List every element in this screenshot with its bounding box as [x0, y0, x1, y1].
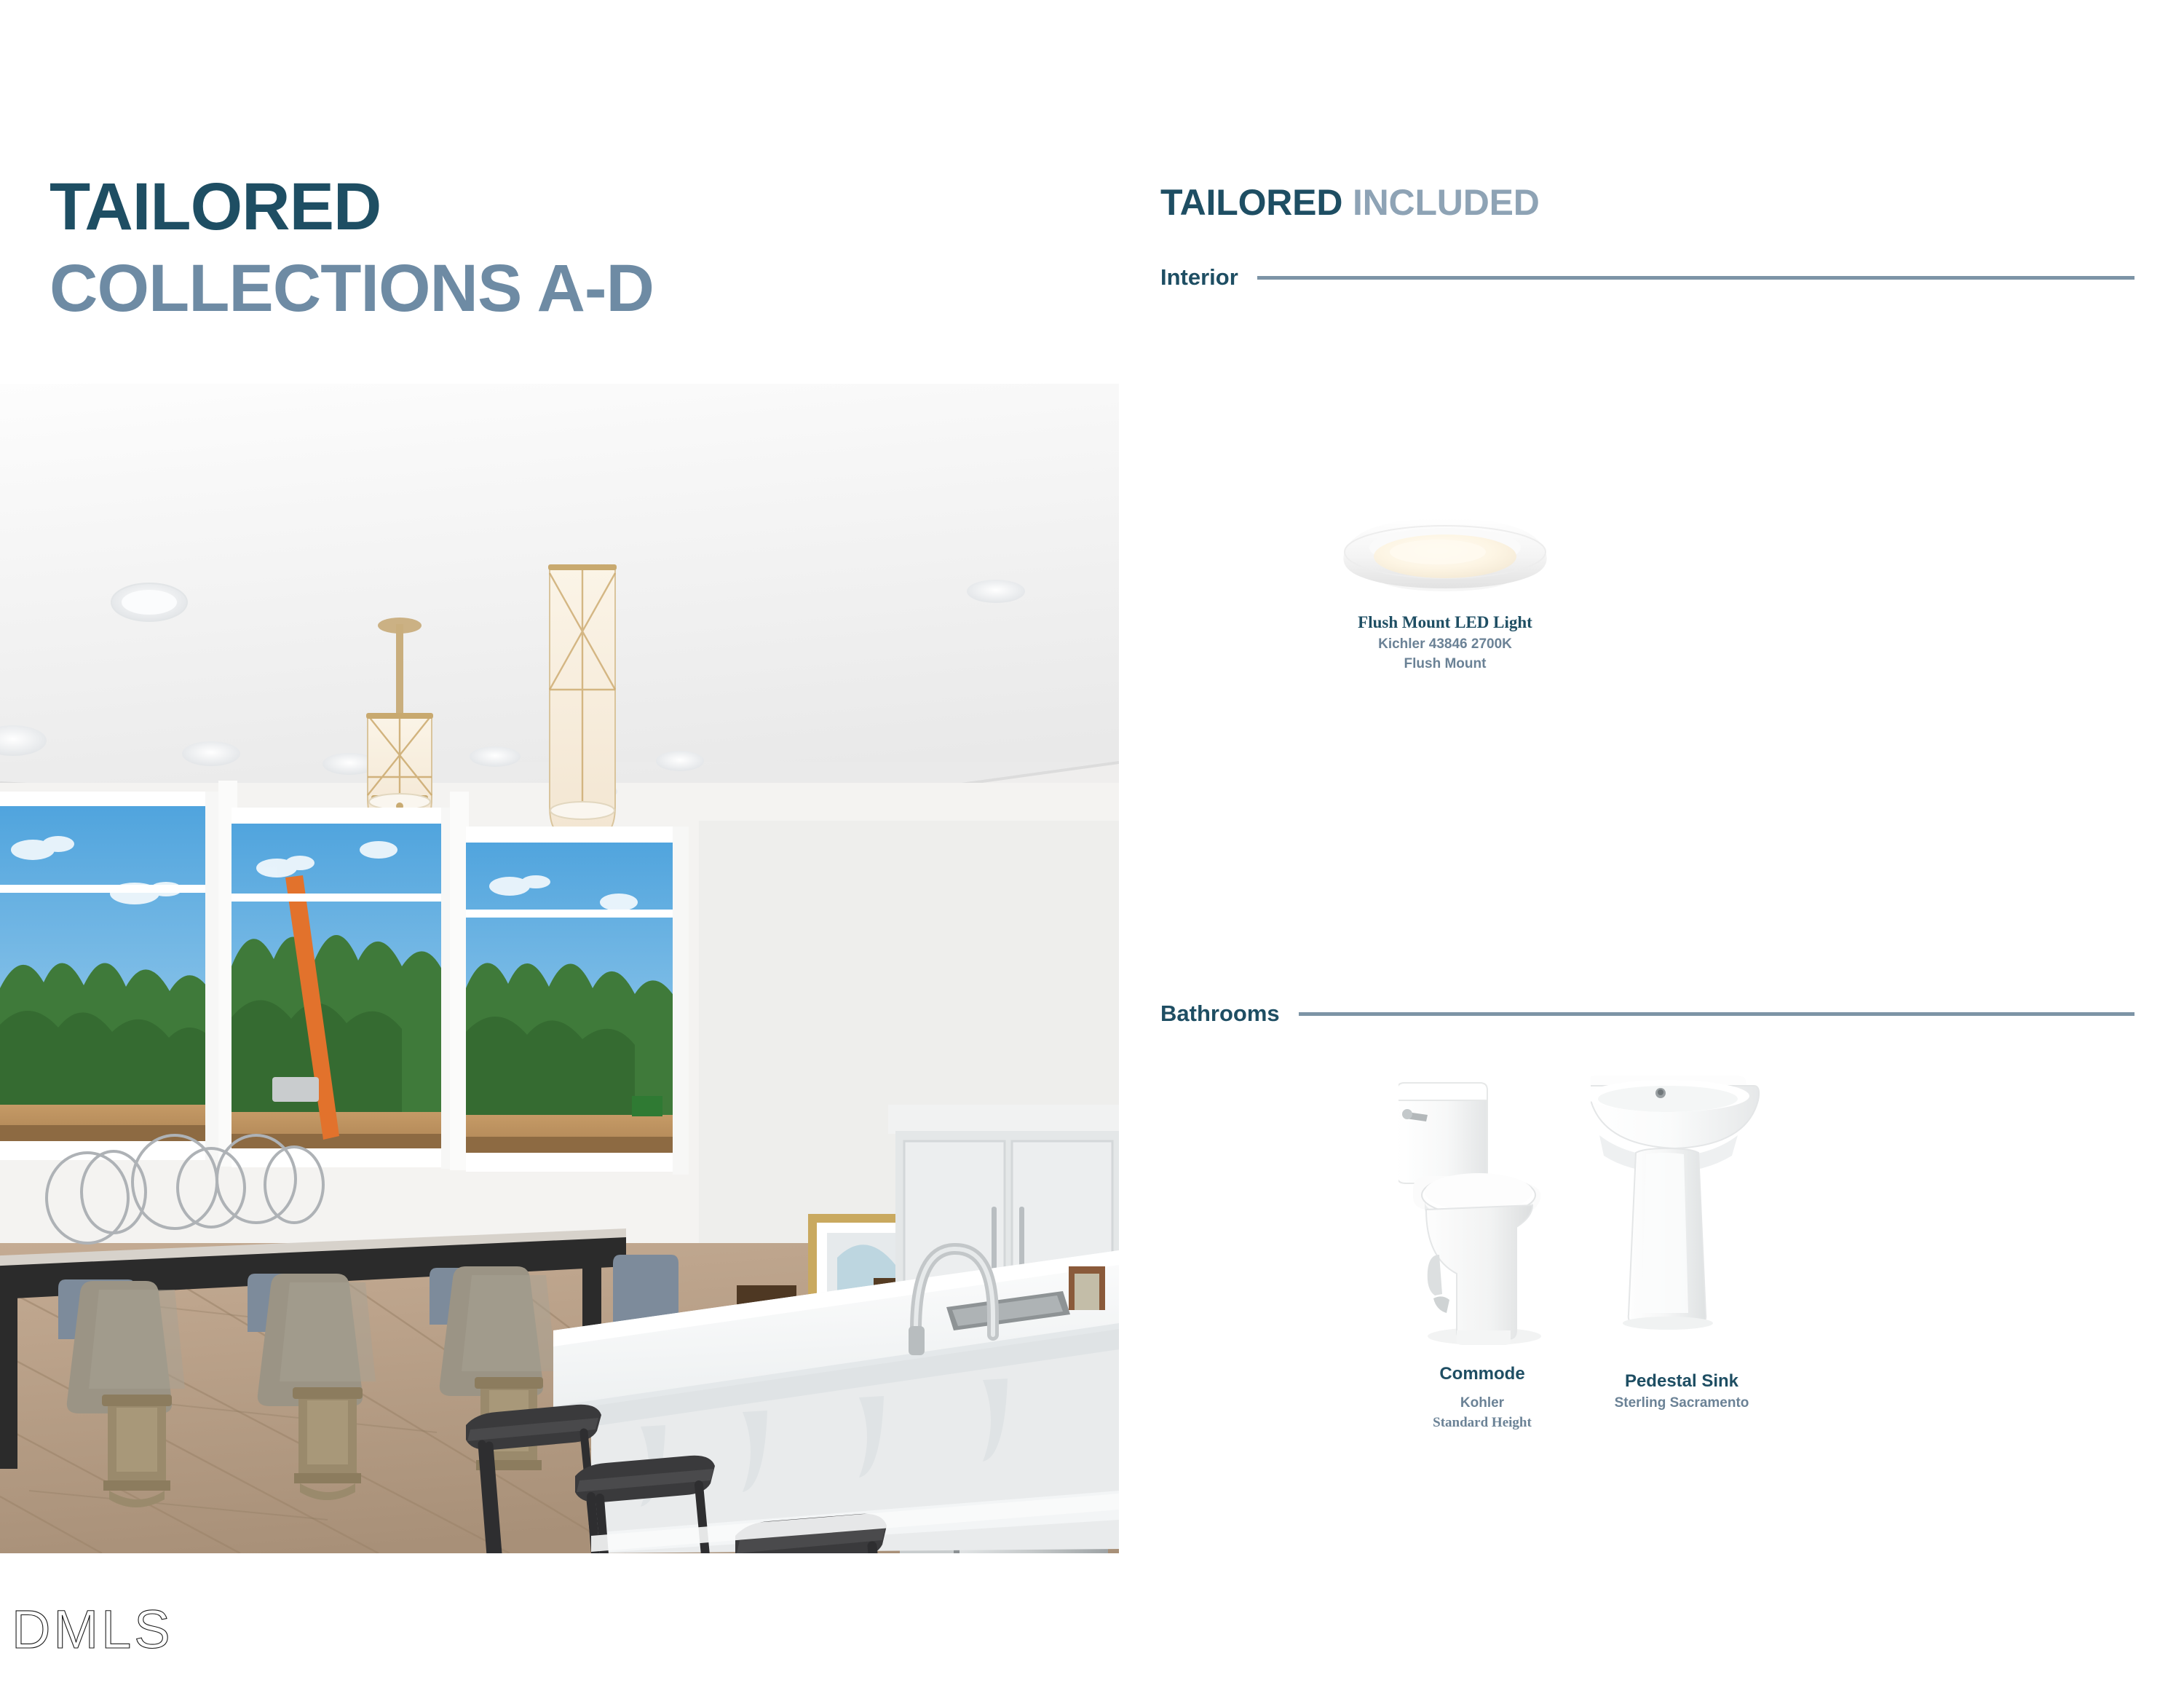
product-flush-mount-led-light[interactable]: Flush Mount LED Light Kichler 43846 2700… [1292, 498, 1598, 672]
section-rule-interior [1257, 276, 2134, 280]
product-brand: Kichler 43846 2700K [1292, 636, 1598, 652]
dmls-logo: DMLS [12, 1598, 173, 1660]
included-header-primary: TAILORED [1160, 182, 1342, 223]
kitchen-illustration [0, 384, 1119, 1553]
product-detail: Flush Mount [1292, 655, 1598, 672]
section-label-bathrooms: Bathrooms [1160, 1001, 1280, 1027]
product-detail: Standard Height [1329, 1414, 1635, 1431]
included-header-secondary: INCLUDED [1353, 182, 1540, 223]
flush-mount-led-light-icon [1292, 498, 1598, 607]
included-panel: TAILORED INCLUDED Interior [1160, 0, 2184, 1688]
product-pedestal-sink[interactable]: Pedestal Sink Sterling Sacramento [1529, 1060, 1835, 1411]
product-name: Flush Mount LED Light [1292, 613, 1598, 633]
section-label-interior: Interior [1160, 264, 1238, 291]
section-header-bathrooms: Bathrooms [1160, 1001, 2134, 1027]
page-title-line2: COLLECTIONS A-D [50, 255, 923, 323]
pedestal-sink-icon [1529, 1060, 1835, 1365]
product-name: Pedestal Sink [1529, 1371, 1835, 1392]
product-brand: Sterling Sacramento [1529, 1395, 1835, 1411]
hero-kitchen-photo [0, 384, 1119, 1553]
dmls-logo-text: DMLS [12, 1599, 173, 1660]
section-rule-bathrooms [1299, 1012, 2134, 1016]
section-header-interior: Interior [1160, 264, 2134, 291]
page-title: TAILORED COLLECTIONS A-D [50, 173, 923, 323]
included-header: TAILORED INCLUDED [1160, 181, 1540, 224]
page-title-line1: TAILORED [50, 173, 923, 242]
